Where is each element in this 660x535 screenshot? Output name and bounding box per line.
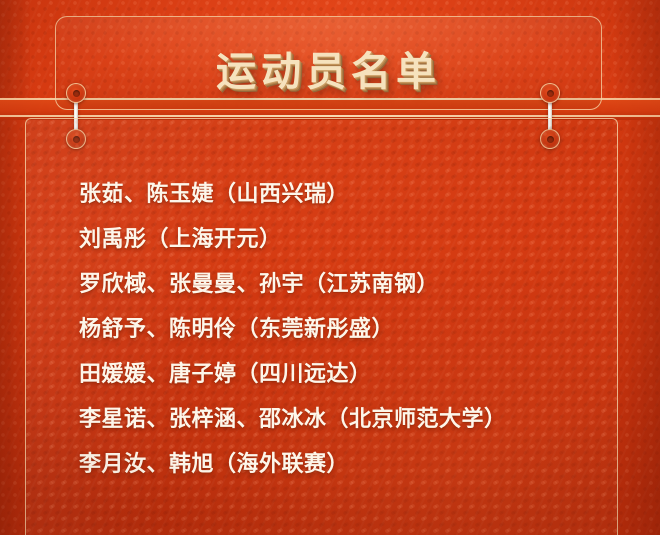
- rivet-hole: [547, 90, 554, 97]
- roster-line: 刘禹彤（上海开元）: [79, 228, 603, 250]
- title-banner: 运动员名单: [55, 16, 602, 110]
- rivet-hole: [73, 90, 80, 97]
- roster-line: 杨舒予、陈明伶（东莞新彤盛）: [79, 318, 603, 340]
- roster-list: 张茹、陈玉婕（山西兴瑞） 刘禹彤（上海开元） 罗欣棫、张曼曼、孙宇（江苏南钢） …: [79, 183, 603, 498]
- roster-line: 张茹、陈玉婕（山西兴瑞）: [79, 183, 603, 205]
- roster-panel: 张茹、陈玉婕（山西兴瑞） 刘禹彤（上海开元） 罗欣棫、张曼曼、孙宇（江苏南钢） …: [25, 118, 618, 535]
- roster-line: 李星诺、张梓涵、邵冰冰（北京师范大学）: [79, 408, 603, 430]
- roster-line: 田媛媛、唐子婷（四川远达）: [79, 363, 603, 385]
- rivet-top-right: [540, 83, 560, 103]
- background-right-shade: [614, 0, 660, 535]
- roster-line: 李月汝、韩旭（海外联赛）: [79, 453, 603, 475]
- page-title: 运动员名单: [56, 39, 601, 97]
- rivet-top-left: [66, 83, 86, 103]
- roster-line: 罗欣棫、张曼曼、孙宇（江苏南钢）: [79, 273, 603, 295]
- poster-stage: 运动员名单 张茹、陈玉婕（山西兴瑞） 刘禹彤（上海开元） 罗欣棫、张曼曼、孙宇（…: [0, 0, 660, 535]
